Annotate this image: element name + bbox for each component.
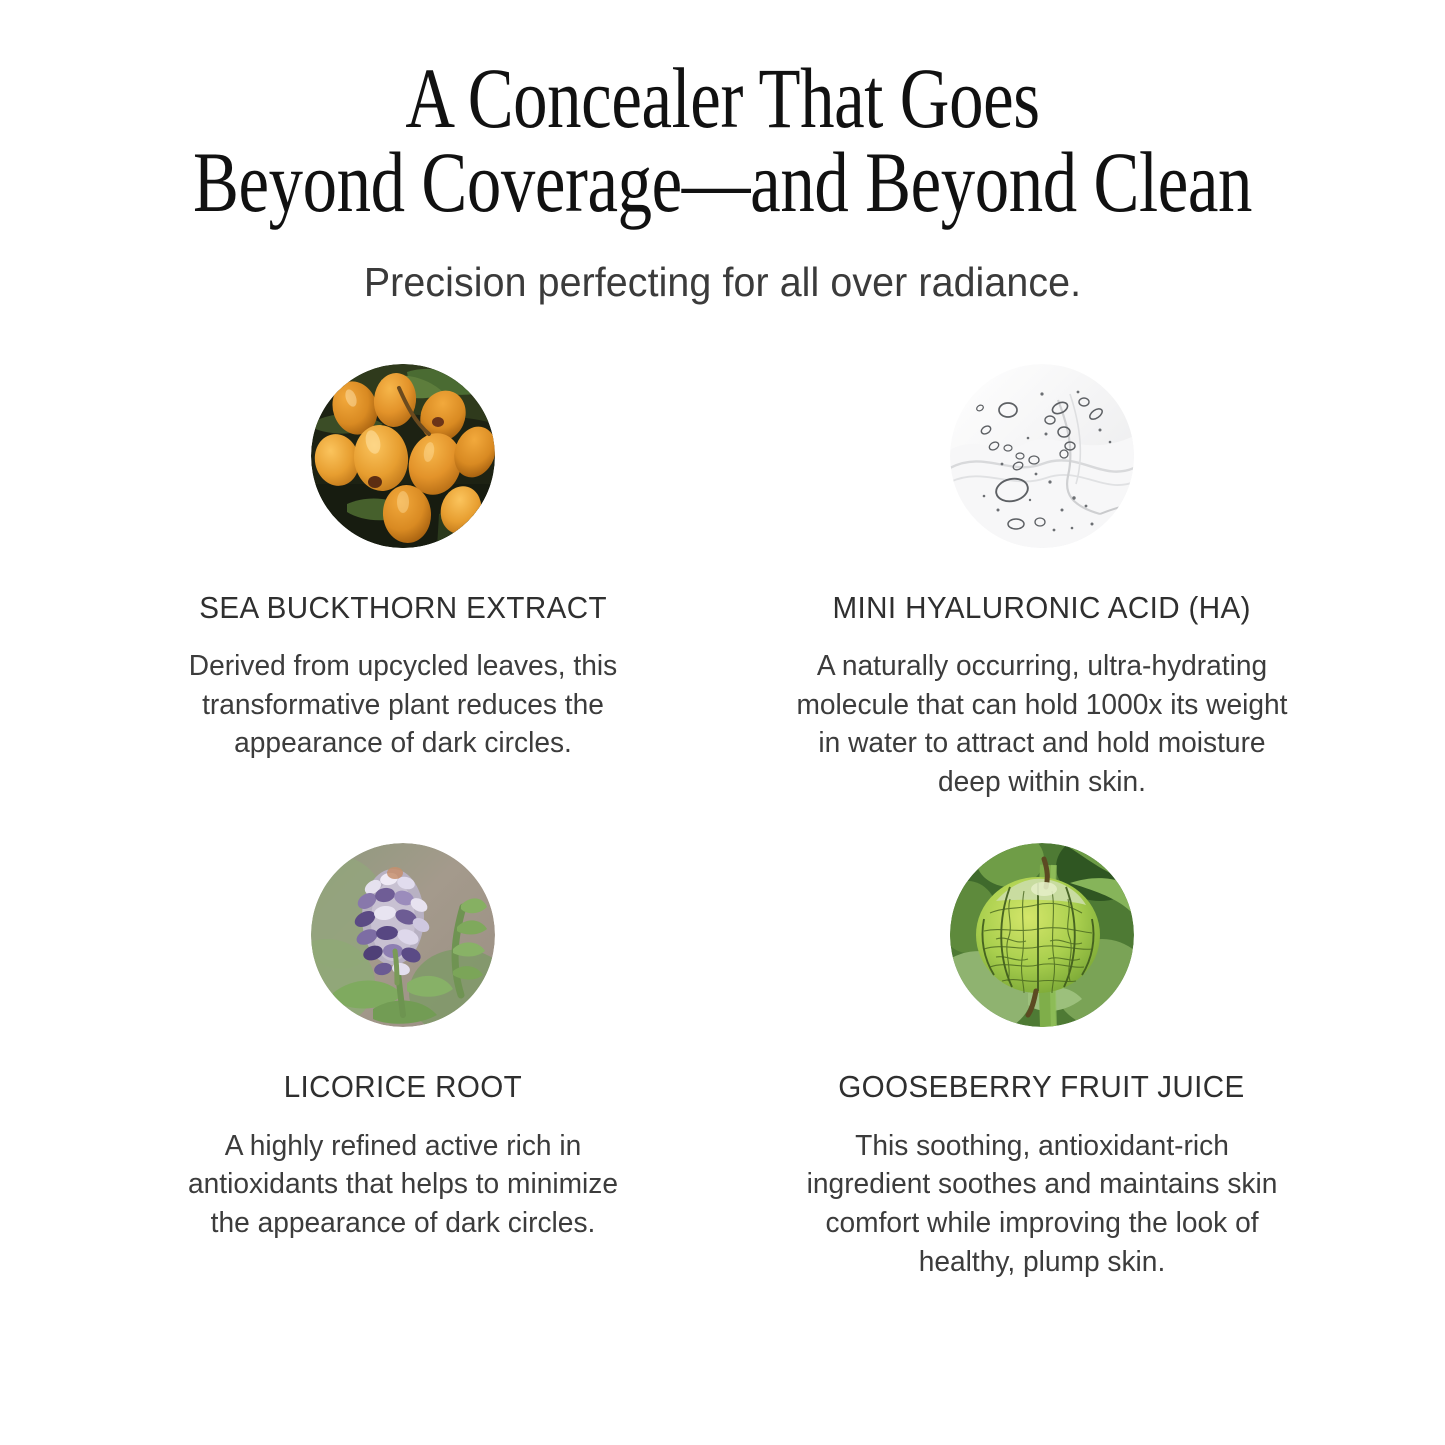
hyaluronic-acid-gel-photo [950, 364, 1134, 548]
headline-line-2: Beyond Coverage—and Beyond Clean [145, 140, 1301, 224]
ingredient-description: A highly refined active rich in antioxid… [175, 1127, 631, 1243]
ingredient-benefits-page: A Concealer That Goes Beyond Coverage—an… [0, 0, 1445, 1445]
ingredient-description: A naturally occurring, ultra-hydrating m… [790, 647, 1294, 801]
licorice-root-flower-photo [311, 843, 495, 1027]
ingredient-description: Derived from upcycled leaves, this trans… [175, 647, 631, 763]
sea-buckthorn-berries-photo [311, 364, 495, 548]
ingredient-card-hyaluronic-acid: MINI HYALURONIC ACID (HA) A naturally oc… [723, 364, 1362, 802]
ingredient-title: GOOSEBERRY FRUIT JUICE [839, 1071, 1245, 1105]
ingredient-title: MINI HYALURONIC ACID (HA) [833, 592, 1251, 626]
page-subtitle: Precision perfecting for all over radian… [29, 259, 1416, 306]
gooseberry-fruit-photo [950, 843, 1134, 1027]
ingredient-title: LICORICE ROOT [284, 1071, 522, 1105]
ingredient-grid: SEA BUCKTHORN EXTRACT Derived from upcyc… [0, 364, 1445, 1282]
page-title: A Concealer That Goes Beyond Coverage—an… [145, 56, 1301, 225]
ingredient-card-licorice-root: LICORICE ROOT A highly refined active ri… [84, 843, 723, 1281]
ingredient-title: SEA BUCKTHORN EXTRACT [199, 592, 607, 626]
ingredient-card-gooseberry: GOOSEBERRY FRUIT JUICE This soothing, an… [723, 843, 1362, 1281]
ingredient-description: This soothing, antioxidant-rich ingredie… [790, 1127, 1294, 1281]
page-header: A Concealer That Goes Beyond Coverage—an… [0, 0, 1445, 306]
ingredient-card-sea-buckthorn: SEA BUCKTHORN EXTRACT Derived from upcyc… [84, 364, 723, 802]
headline-line-1: A Concealer That Goes [145, 56, 1301, 140]
